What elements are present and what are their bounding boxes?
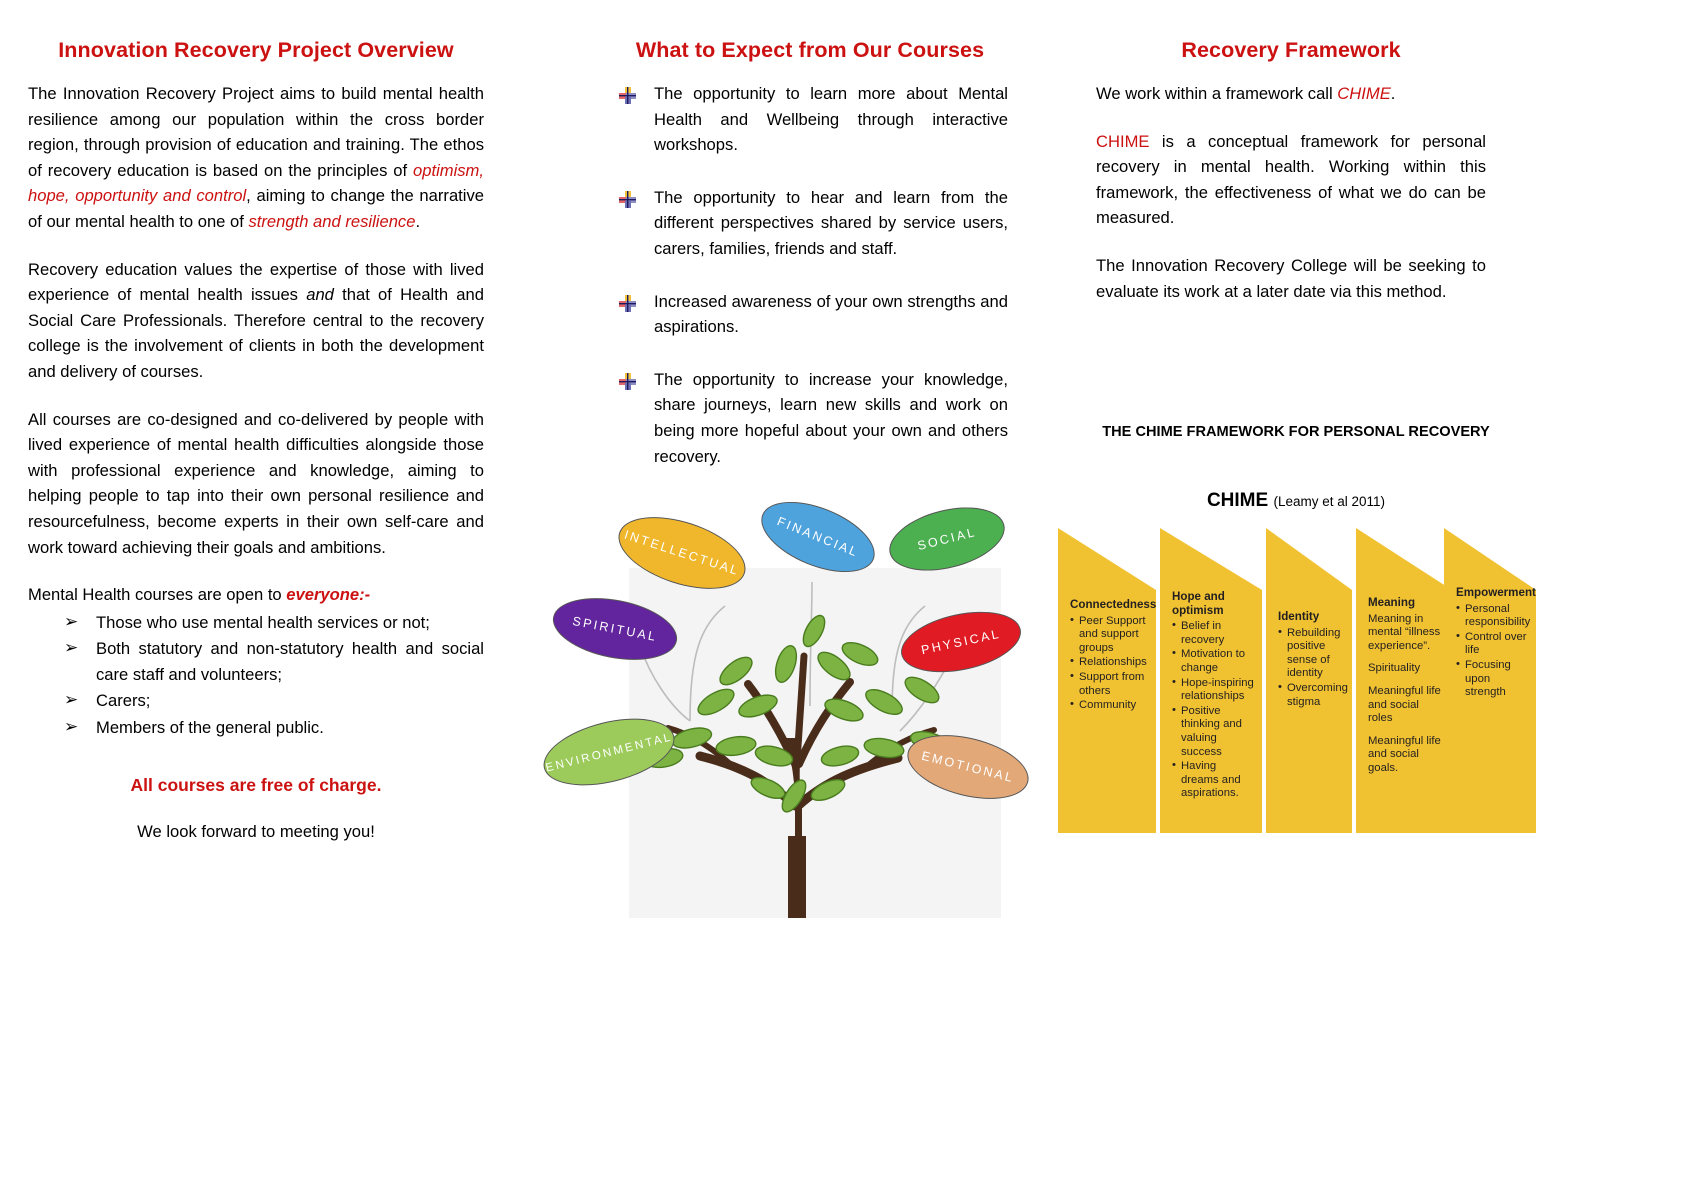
list-item: ➢Those who use mental health services or…: [28, 610, 484, 636]
p1-emphasis-2: strength and resilience: [248, 212, 415, 231]
list-item-label: Members of the general public.: [96, 718, 324, 737]
stage-bullet: Community: [1070, 699, 1148, 713]
c3p1-part-b: .: [1391, 84, 1396, 103]
stage-title: Connectedness: [1070, 598, 1148, 612]
chime-diagram-subtitle: CHIME (Leamy et al 2011): [1096, 490, 1496, 512]
stage-bullet: Rebuilding positive sense of identity: [1278, 627, 1344, 681]
list-item-label: The opportunity to hear and learn from t…: [654, 188, 1008, 258]
chime-emphasis: CHIME: [1337, 84, 1390, 103]
stage-line: Meaningful life and social goals.: [1368, 735, 1444, 776]
stage-bullet: Control over life: [1456, 631, 1528, 658]
tree-oval-label: EMOTIONAL: [920, 749, 1016, 786]
chime-diagram-title: THE CHIME FRAMEWORK FOR PERSONAL RECOVER…: [1096, 422, 1496, 443]
stage-bullet: Relationships: [1070, 656, 1148, 670]
four-colour-cross-icon: [619, 190, 636, 207]
list-item: The opportunity to hear and learn from t…: [612, 185, 1008, 262]
col2-heading: What to Expect from Our Courses: [612, 38, 1008, 63]
list-item-label: Both statutory and non-statutory health …: [96, 639, 484, 684]
col3-paragraph-2: CHIME is a conceptual framework for pers…: [1096, 129, 1486, 231]
column-framework: Recovery Framework We work within a fram…: [1096, 0, 1486, 326]
col3-heading: Recovery Framework: [1096, 38, 1486, 63]
list-item-label: Increased awareness of your own strength…: [654, 292, 1008, 337]
stage-bullet: Overcoming stigma: [1278, 682, 1344, 709]
stage-bullet: Personal responsibility: [1456, 603, 1528, 630]
arrow-bullet-icon: ➢: [64, 714, 78, 740]
four-colour-cross-icon: [619, 86, 636, 103]
wellbeing-tree-illustration: INTELLECTUAL FINANCIAL SOCIAL SPIRITUAL …: [540, 506, 1040, 918]
stage-title: Hope and optimism: [1172, 590, 1254, 617]
col1-paragraph-1: The Innovation Recovery Project aims to …: [28, 81, 484, 235]
list-item: ➢Members of the general public.: [28, 715, 484, 741]
p4-part-a: Mental Health courses are open to: [28, 585, 286, 604]
tree-oval-label: SPIRITUAL: [571, 614, 658, 644]
closing-line: We look forward to meeting you!: [28, 822, 484, 842]
c3p2-rest: is a conceptual framework for personal r…: [1096, 132, 1486, 228]
list-item-label: Those who use mental health services or …: [96, 613, 430, 632]
arrow-bullet-icon: ➢: [64, 635, 78, 661]
chime-keyword: CHIME: [1096, 132, 1149, 151]
stage-title: Empowerment: [1456, 586, 1528, 600]
stage-bullets: Personal responsibility Control over lif…: [1456, 603, 1528, 700]
chime-stage-meaning: Meaning Meaning in mental “illness exper…: [1356, 528, 1452, 833]
stage-bullet: Having dreams and aspirations.: [1172, 760, 1254, 801]
list-item: ➢Both statutory and non-statutory health…: [28, 636, 484, 687]
tree-oval-label: SOCIAL: [916, 525, 978, 553]
free-of-charge-callout: All courses are free of charge.: [28, 775, 484, 796]
stage-bullet: Belief in recovery: [1172, 620, 1254, 647]
stage-line: Spirituality: [1368, 662, 1444, 676]
stage-title: Identity: [1278, 610, 1344, 624]
col1-paragraph-3: All courses are co-designed and co-deliv…: [28, 407, 484, 561]
p4-emphasis: everyone:-: [286, 585, 370, 604]
list-item-label: The opportunity to increase your knowled…: [654, 370, 1008, 466]
tree-graphic: [540, 506, 1040, 918]
chime-subtitle-word: CHIME: [1207, 490, 1268, 511]
chime-stage-connectedness: Connectedness Peer Support and support g…: [1058, 528, 1156, 833]
stage-bullets: Peer Support and support groups Relation…: [1070, 615, 1148, 713]
stage-bullet: Motivation to change: [1172, 648, 1254, 675]
chime-stage-empowerment: Empowerment Personal responsibility Cont…: [1444, 528, 1536, 833]
chime-chevron-diagram: Connectedness Peer Support and support g…: [1058, 528, 1548, 833]
stage-bullet: Positive thinking and valuing success: [1172, 705, 1254, 759]
col1-open-to-everyone: Mental Health courses are open to everyo…: [28, 582, 484, 608]
stage-bullet: Focusing upon strength: [1456, 659, 1528, 700]
stage-bullet: Hope-inspiring relationships: [1172, 677, 1254, 704]
p2-emphasis: and: [306, 285, 334, 304]
list-item-label: The opportunity to learn more about Ment…: [654, 84, 1008, 154]
col3-paragraph-1: We work within a framework call CHIME.: [1096, 81, 1486, 107]
stage-bullet: Support from others: [1070, 671, 1148, 698]
column-expectations: What to Expect from Our Courses The oppo…: [612, 0, 1008, 496]
arrow-bullet-icon: ➢: [64, 687, 78, 713]
chime-citation: (Leamy et al 2011): [1273, 494, 1385, 509]
four-colour-cross-icon: [619, 294, 636, 311]
four-colour-cross-icon: [619, 372, 636, 389]
col3-paragraph-3: The Innovation Recovery College will be …: [1096, 253, 1486, 304]
p1-part-c: .: [415, 212, 420, 231]
expectations-list: The opportunity to learn more about Ment…: [612, 81, 1008, 469]
column-overview: Innovation Recovery Project Overview The…: [28, 0, 484, 842]
brochure-page: Innovation Recovery Project Overview The…: [0, 0, 1684, 1190]
col1-paragraph-2: Recovery education values the expertise …: [28, 257, 484, 385]
list-item: The opportunity to increase your knowled…: [612, 367, 1008, 469]
tree-oval-label: PHYSICAL: [920, 627, 1002, 658]
chime-stage-identity: Identity Rebuilding positive sense of id…: [1266, 528, 1352, 833]
stage-bullets: Belief in recovery Motivation to change …: [1172, 620, 1254, 801]
c3p1-part-a: We work within a framework call: [1096, 84, 1337, 103]
list-item: ➢Carers;: [28, 688, 484, 714]
stage-line: Meaning in mental “illness experience”.: [1368, 613, 1444, 654]
stage-line: Meaningful life and social roles: [1368, 685, 1444, 726]
list-item: The opportunity to learn more about Ment…: [612, 81, 1008, 158]
chime-stage-hope-and-optimism: Hope and optimism Belief in recovery Mot…: [1160, 528, 1262, 833]
list-item: Increased awareness of your own strength…: [612, 289, 1008, 340]
audience-list: ➢Those who use mental health services or…: [28, 610, 484, 741]
stage-title: Meaning: [1368, 596, 1444, 610]
stage-bullet: Peer Support and support groups: [1070, 615, 1148, 656]
tree-oval-label: FINANCIAL: [775, 514, 861, 560]
list-item-label: Carers;: [96, 691, 150, 710]
arrow-bullet-icon: ➢: [64, 609, 78, 635]
col1-heading: Innovation Recovery Project Overview: [28, 38, 484, 63]
stage-bullets: Rebuilding positive sense of identity Ov…: [1278, 627, 1344, 710]
